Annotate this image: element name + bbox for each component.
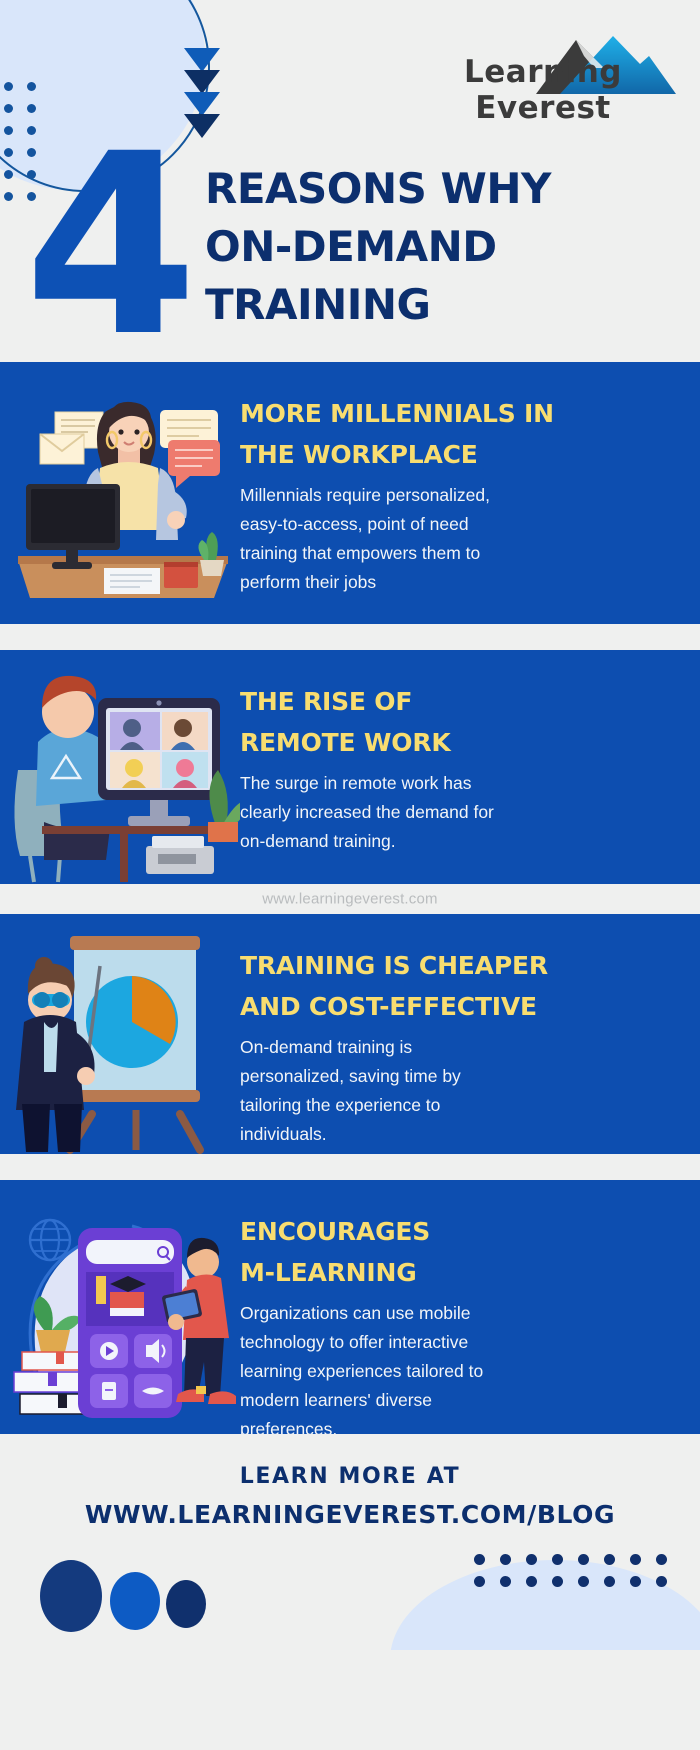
- decor-circle-small: [166, 1580, 206, 1628]
- reason-section-4: Encourages M-Learning Organizations can …: [0, 1180, 700, 1434]
- reason-4-title: Encourages M-Learning: [240, 1212, 674, 1293]
- m-learning-illustration: [0, 1180, 240, 1434]
- reason-4-body: Organizations can use mobile technology …: [240, 1299, 674, 1434]
- woman-at-desk-illustration: [0, 362, 240, 624]
- watermark-url: www.learningeverest.com: [0, 891, 700, 908]
- triangle-down-icon: [184, 70, 220, 94]
- header: Learning Everest 4 Reasons Why On-Demand…: [0, 0, 700, 362]
- page-title: Reasons Why On-Demand Training: [205, 160, 685, 334]
- reason-1-title: More Millennials in the Workplace: [240, 394, 674, 475]
- page-title-line-3: Training: [205, 276, 685, 334]
- reason-3-body: On-demand training is personalized, savi…: [240, 1033, 674, 1149]
- pie-chart: [86, 976, 178, 1068]
- remote-work-illustration: [0, 650, 240, 884]
- headline-number: 4: [24, 140, 192, 353]
- woman-at-desk-with-monitor-icon: [0, 362, 240, 624]
- decor-circle-medium: [110, 1572, 160, 1630]
- section-gap-3: [0, 1154, 700, 1180]
- reason-2-body: The surge in remote work has clearly inc…: [240, 769, 674, 856]
- reason-2-title: The Rise of Remote Work: [240, 682, 674, 763]
- woman-presenting-pie-chart-icon: [0, 914, 240, 1154]
- decor-circle-large: [40, 1560, 102, 1632]
- man-video-call-desktop-icon: [0, 650, 240, 884]
- reason-4-copy: Encourages M-Learning Organizations can …: [240, 1180, 700, 1434]
- brand-logo-text: Learning Everest: [408, 54, 678, 126]
- reason-1-body: Millennials require personalized, easy-t…: [240, 481, 674, 597]
- reason-section-3: Training is Cheaper and Cost-Effective O…: [0, 914, 700, 1154]
- reason-section-1: More Millennials in the Workplace Millen…: [0, 362, 700, 624]
- reason-3-title: Training is Cheaper and Cost-Effective: [240, 946, 674, 1027]
- footer-url-link[interactable]: WWW.LEARNINGEVEREST.COM/BLOG: [0, 1500, 700, 1529]
- decor-dot-grid-right: [474, 1554, 682, 1598]
- reason-3-copy: Training is Cheaper and Cost-Effective O…: [240, 914, 700, 1149]
- page-title-line-1: Reasons Why: [205, 160, 685, 218]
- mobile-learning-phone-icon: [0, 1180, 240, 1434]
- reason-1-title-line-1: More Millennials in: [240, 394, 674, 435]
- footer: LEARN MORE AT WWW.LEARNINGEVEREST.COM/BL…: [0, 1434, 700, 1650]
- reason-1-copy: More Millennials in the Workplace Millen…: [240, 362, 700, 597]
- section-gap-2-watermark: www.learningeverest.com: [0, 884, 700, 914]
- reason-section-2: The Rise of Remote Work The surge in rem…: [0, 650, 700, 884]
- reason-1-title-line-2: the Workplace: [240, 435, 674, 476]
- pie-chart-presentation-illustration: [0, 914, 240, 1154]
- reason-2-copy: The Rise of Remote Work The surge in rem…: [240, 650, 700, 856]
- section-gap-1: [0, 624, 700, 650]
- footer-cta-label: LEARN MORE AT: [0, 1464, 700, 1489]
- page-title-line-2: On-Demand: [205, 218, 685, 276]
- brand-logo[interactable]: Learning Everest: [408, 34, 678, 124]
- triangle-down-icon: [184, 48, 220, 72]
